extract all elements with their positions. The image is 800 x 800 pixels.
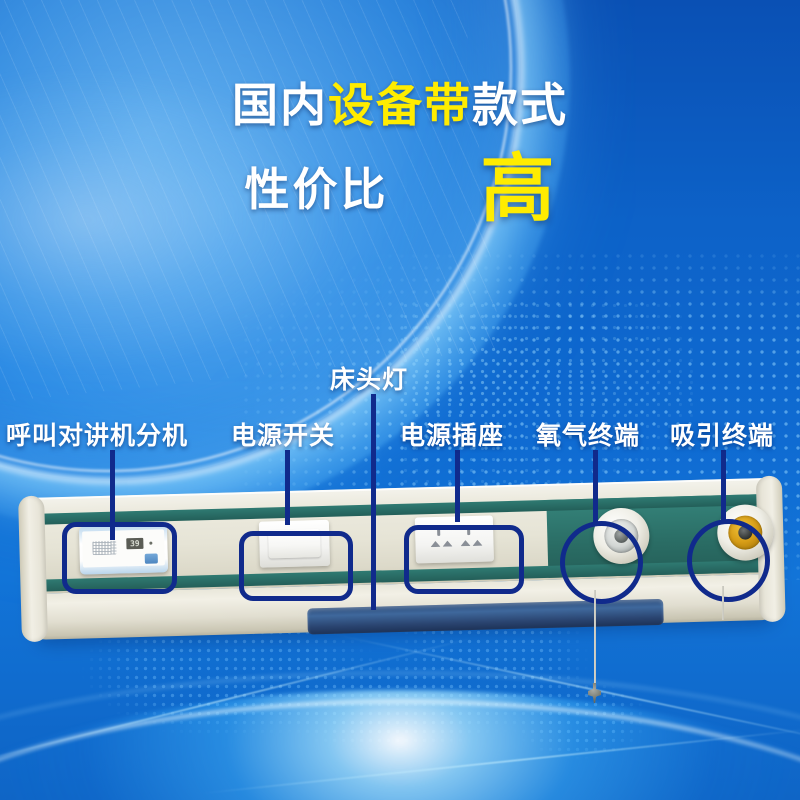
- highlight-power-switch: [239, 531, 353, 601]
- highlight-oxygen-outlet: [560, 521, 643, 604]
- leader-line-oxygen-outlet: [593, 450, 598, 523]
- headline-block: 国内设备带款式 性价比 高: [0, 82, 800, 226]
- headline-text-high: 高: [481, 152, 556, 226]
- callout-label-power-socket: 电源插座: [400, 416, 504, 452]
- pull-cord-suction[interactable]: [722, 586, 724, 620]
- callout-label-power-switch: 电源开关: [231, 416, 335, 452]
- leader-line-power-socket: [455, 450, 460, 522]
- headline-text-bedhead: 设备带: [328, 79, 472, 131]
- headline-text-domestic: 国内: [232, 79, 328, 131]
- panel-end-cap-left: [18, 496, 48, 643]
- headline-text-style: 款式: [472, 79, 568, 131]
- headline-text-value: 性价比: [244, 167, 388, 212]
- leader-line-suction-outlet: [721, 450, 726, 522]
- leader-line-bed-lamp: [371, 394, 376, 610]
- callout-label-intercom: 呼叫对讲机分机: [6, 416, 188, 452]
- pull-cord-oxygen[interactable]: [594, 590, 596, 685]
- headline-line-2: 性价比 高: [0, 152, 800, 226]
- leader-line-power-switch: [285, 450, 290, 525]
- highlight-suction-outlet: [687, 519, 770, 602]
- callout-label-suction-outlet: 吸引终端: [670, 416, 774, 452]
- headline-line-1: 国内设备带款式: [0, 82, 800, 128]
- callout-label-bed-lamp: 床头灯: [330, 360, 408, 396]
- promo-image: 国内设备带款式 性价比 高 呼叫对讲机分机 电源开关 床头灯 电源插座 氧气终端…: [0, 0, 800, 800]
- callout-label-oxygen-outlet: 氧气终端: [536, 416, 640, 452]
- highlight-power-socket: [404, 525, 524, 594]
- highlight-intercom: [62, 522, 177, 594]
